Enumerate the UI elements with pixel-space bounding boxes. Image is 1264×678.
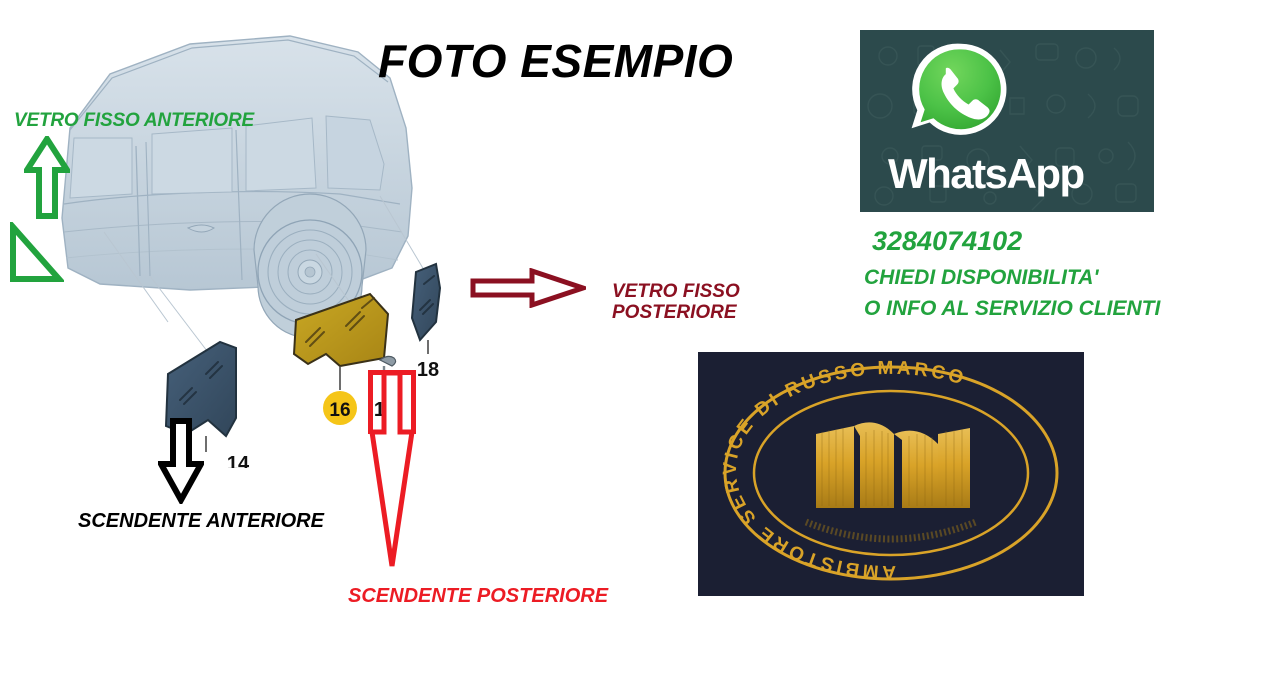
shop-logo: MRICAMBISTORE SERVICE DI RUSSO MARCO: [698, 352, 1084, 596]
green-up-arrow-icon: [24, 136, 70, 225]
screenshot-canvas: 14 16 17 18: [0, 0, 1264, 678]
part-18-rear-fixed-glass: [412, 264, 440, 354]
part-number-14: 14: [227, 453, 250, 468]
contact-availability-line: CHIEDI DISPONIBILITA': [864, 266, 1098, 290]
dark-red-right-arrow-icon: [470, 268, 586, 313]
part-number-16: 16: [329, 400, 350, 421]
label-vetro-fisso-posteriore-line1: VETRO FISSO: [612, 281, 740, 302]
label-scendente-posteriore: SCENDENTE POSTERIORE: [348, 585, 608, 607]
green-triangle-icon: [8, 222, 64, 289]
page-title: FOTO ESEMPIO: [378, 36, 733, 88]
label-vetro-fisso-posteriore: VETRO FISSO POSTERIORE: [612, 281, 740, 324]
shop-logo-monogram: [816, 422, 970, 508]
whatsapp-wordmark: WhatsApp: [888, 150, 1084, 198]
whatsapp-phone-bubble-icon: [904, 38, 1018, 152]
label-vetro-fisso-posteriore-line2: POSTERIORE: [612, 302, 740, 323]
contact-service-line: O INFO AL SERVIZIO CLIENTI: [864, 297, 1160, 321]
label-scendente-anteriore: SCENDENTE ANTERIORE: [78, 510, 324, 532]
whatsapp-banner: WhatsApp: [860, 30, 1154, 212]
black-down-arrow-icon: [158, 418, 204, 509]
car-body-outline: [62, 36, 412, 338]
phone-number[interactable]: 3284074102: [872, 226, 1022, 257]
label-vetro-fisso-anteriore: VETRO FISSO ANTERIORE: [14, 110, 254, 131]
red-down-arrow-icon: [368, 370, 416, 575]
part-number-18: 18: [417, 359, 439, 381]
